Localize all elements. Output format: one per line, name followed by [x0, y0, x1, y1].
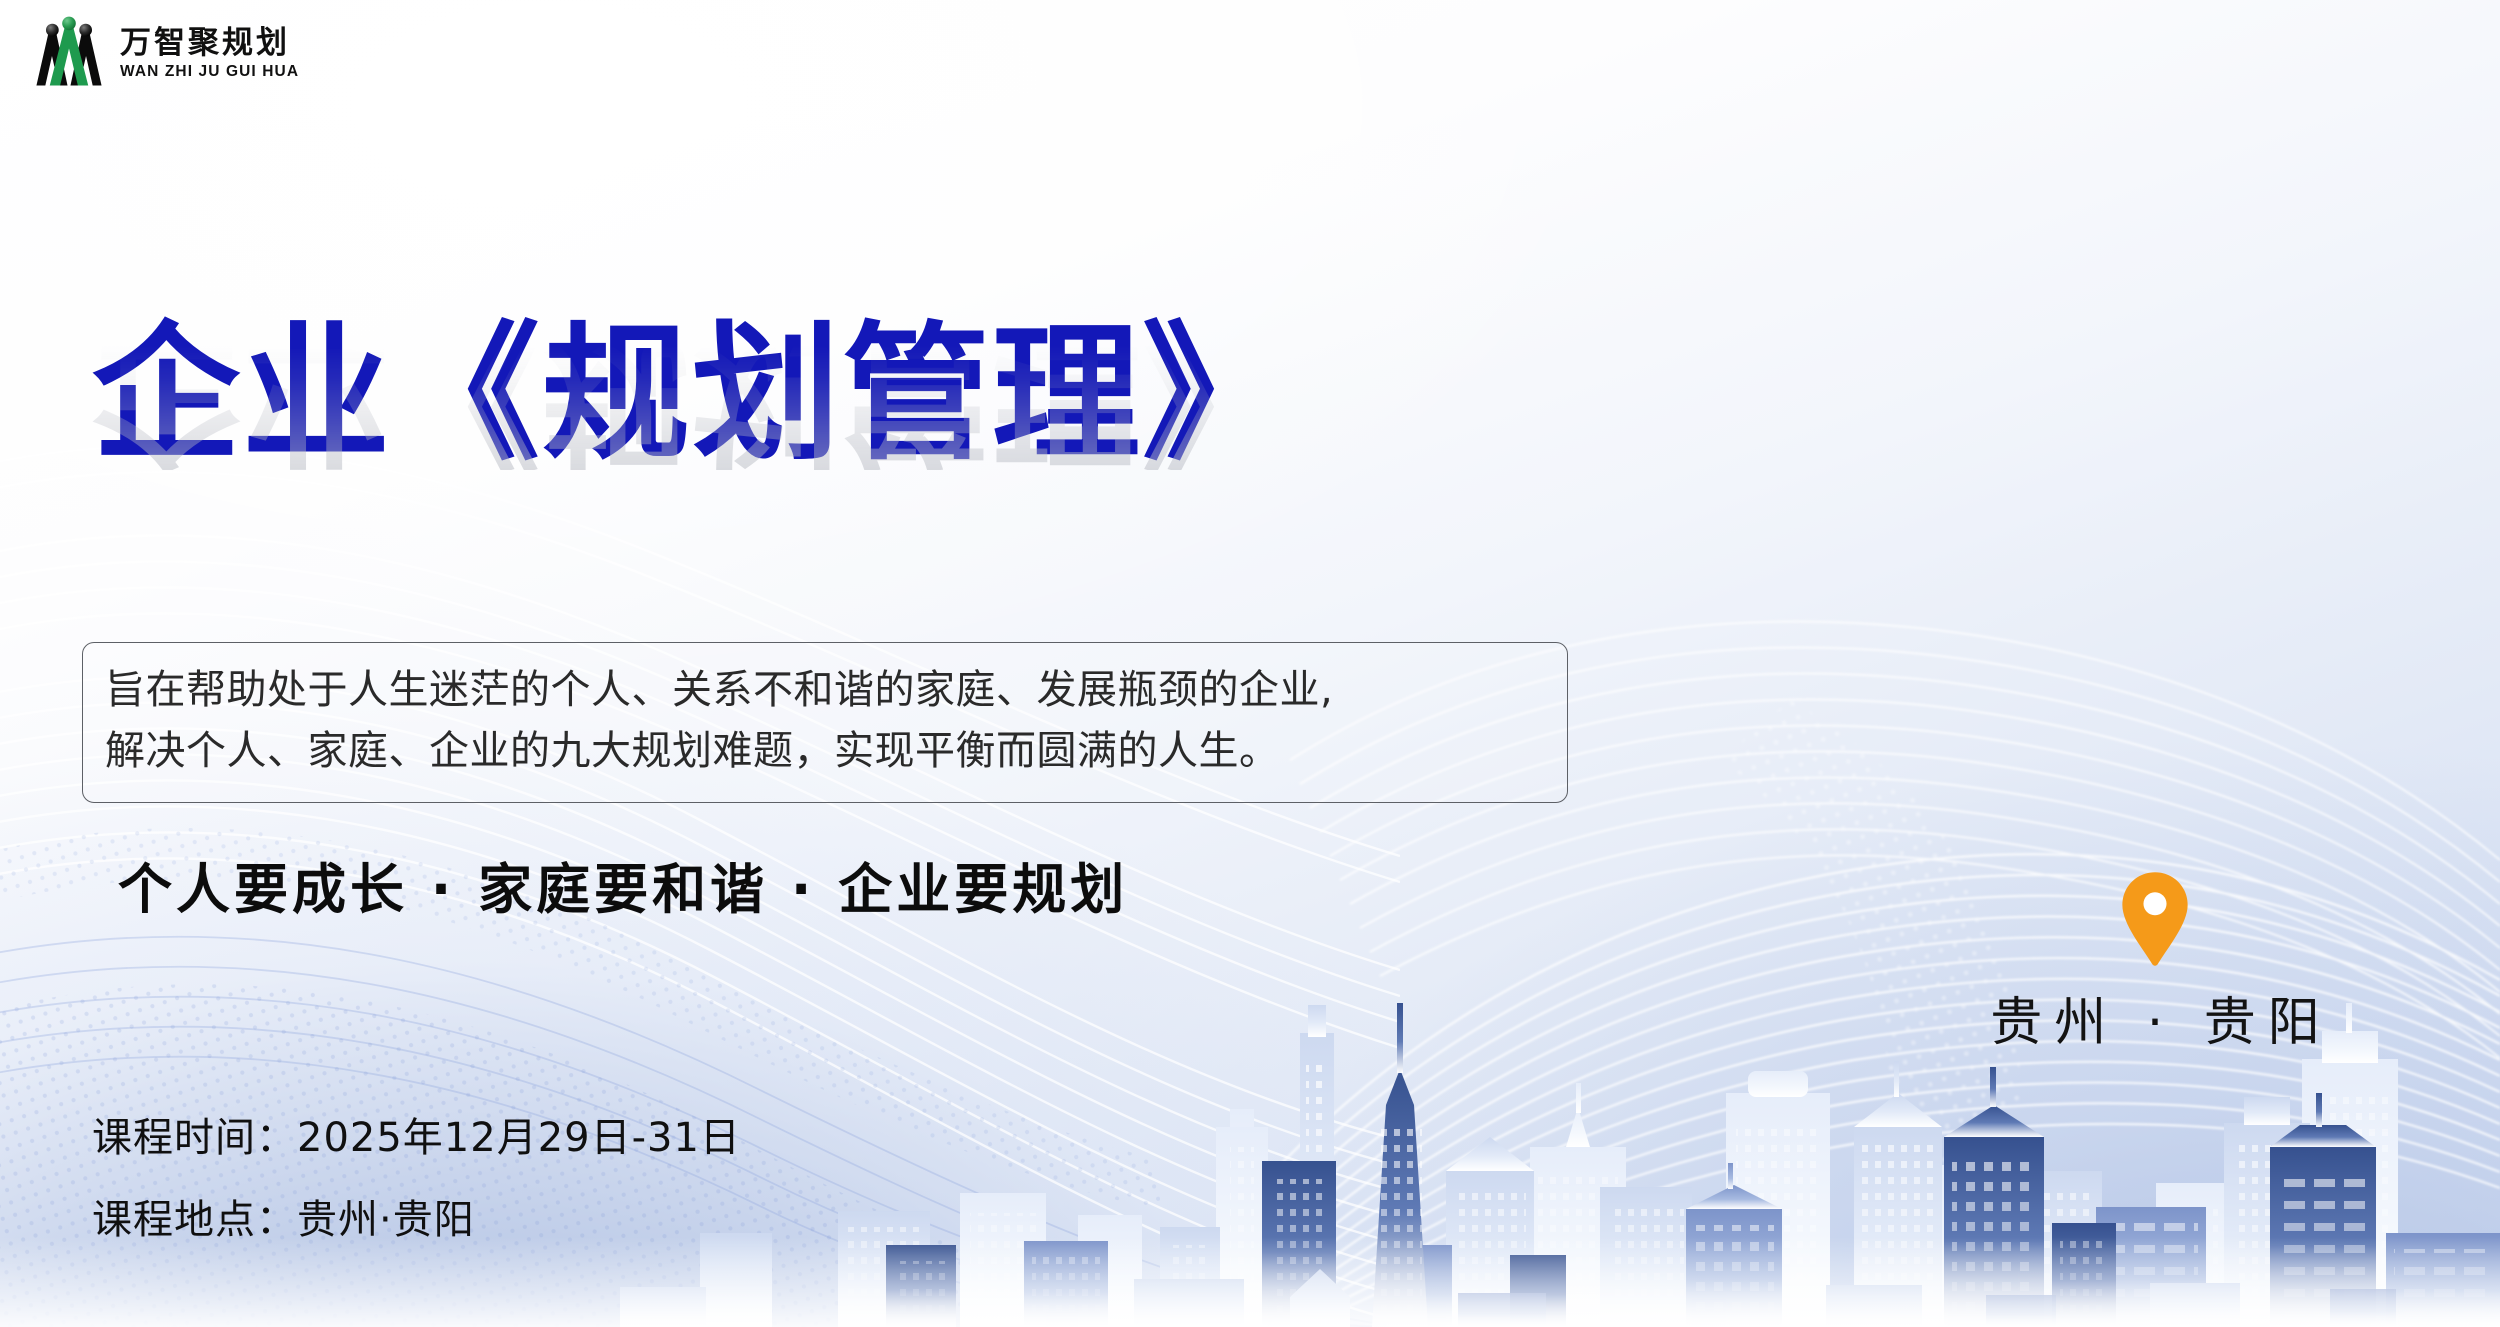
brand-name-pinyin: WAN ZHI JU GUI HUA: [120, 63, 299, 81]
course-info-block: 课程时间：2025年12月29日-31日 课程地点：贵州·贵阳: [92, 1118, 741, 1240]
location-block: 贵州 · 贵阳: [1955, 870, 2355, 1055]
brand-logo[interactable]: 万智聚规划 WAN ZHI JU GUI HUA: [32, 14, 299, 92]
brand-name-cn: 万智聚规划: [120, 25, 299, 61]
hero-title-block: 企业《规划管理》 企业《规划管理》: [92, 320, 1292, 618]
course-place: 课程地点：贵州·贵阳: [92, 1200, 741, 1240]
description-line-2: 解决个人、家庭、企业的九大规划难题，实现平衡而圆满的人生。: [105, 721, 1545, 782]
course-time: 课程时间：2025年12月29日-31日: [92, 1118, 741, 1158]
page-title-reflection: 企业《规划管理》: [92, 334, 1292, 470]
description-box: 旨在帮助处于人生迷茫的个人、关系不和谐的家庭、发展瓶颈的企业, 解决个人、家庭、…: [82, 642, 1568, 803]
three-people-logo-icon: [32, 14, 106, 92]
poster-canvas: 万智聚规划 WAN ZHI JU GUI HUA 企业《规划管理》 企业《规划管…: [0, 0, 2500, 1327]
location-city: 贵州 · 贵阳: [1955, 980, 2355, 1055]
tagline: 个人要成长 · 家庭要和谐 · 企业要规划: [118, 845, 1128, 924]
map-pin-icon: [1955, 870, 2355, 968]
description-line-1: 旨在帮助处于人生迷茫的个人、关系不和谐的家庭、发展瓶颈的企业,: [105, 660, 1545, 721]
